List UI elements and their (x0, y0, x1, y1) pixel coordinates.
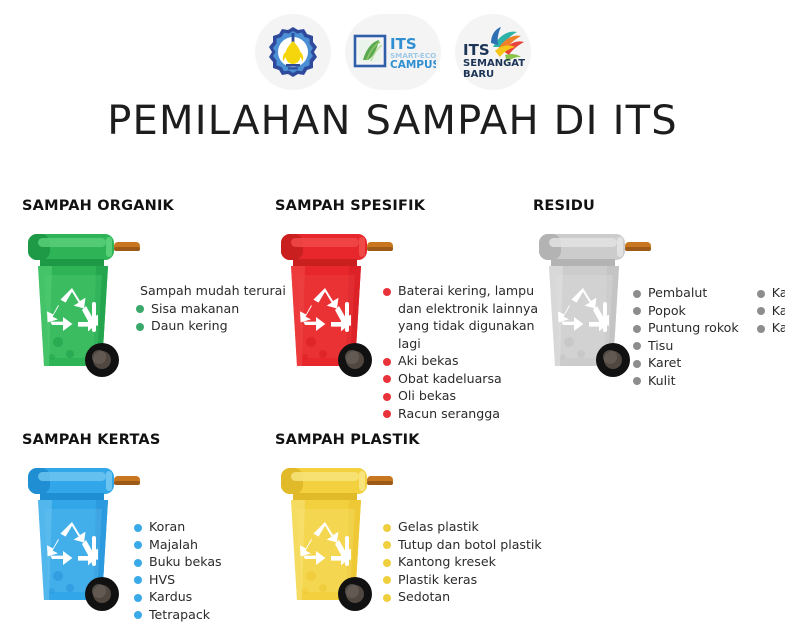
waste-item-label: Kayu (772, 320, 785, 335)
bin-wheel-hub-highlight (345, 350, 359, 364)
waste-item-label: Aki bekas (398, 353, 459, 368)
bin-wheel-hub-highlight (345, 584, 359, 598)
bullet-dot (633, 342, 641, 350)
bullet-dot (633, 325, 641, 333)
bullet-dot (383, 594, 391, 602)
waste-item-label: Kain (772, 303, 785, 318)
bin-lid-edge (617, 237, 623, 257)
bin-dot (49, 588, 55, 594)
waste-item: Sedotan (383, 588, 542, 606)
bullet-dot (136, 305, 144, 313)
bin-dot (302, 354, 308, 360)
bullet-dot (383, 576, 391, 584)
bin-handle-shadow (114, 247, 140, 251)
waste-item-label: Kulit (648, 373, 676, 388)
bin-wheel-hub-highlight (92, 584, 106, 598)
bin-illustration-spesifik (275, 226, 395, 386)
category-organik: SAMPAH ORGANIK Sampah mudah teruraiSisa … (22, 198, 174, 386)
waste-item-label: Karet (648, 355, 681, 370)
bin-illustration-organik (22, 226, 142, 386)
bullet-dot (134, 559, 142, 567)
category-title: RESIDU (533, 198, 595, 214)
bin-dot (66, 350, 74, 358)
bullet-dot (757, 325, 765, 333)
waste-bin-graphic (275, 460, 395, 620)
waste-item: Daun kering (136, 317, 286, 335)
waste-item: Karet (633, 354, 739, 372)
waste-item-label: Tisu (648, 338, 673, 353)
waste-item: Tisu (633, 337, 739, 355)
infographic-page: ITS SMART-ECO CAMPUS ITS SEMANGAT BARU (0, 0, 785, 639)
category-plastik: SAMPAH PLASTIK Gelas plastikTutup dan bo… (275, 432, 420, 620)
waste-item: Tetrapack (134, 606, 222, 624)
bin-neck (40, 493, 104, 501)
waste-item-label: Plastik keras (398, 572, 477, 587)
waste-item-label: Kantong kresek (398, 554, 496, 569)
bin-dot (319, 584, 327, 592)
bullet-dot (383, 393, 391, 401)
bin-lid-highlight (291, 472, 359, 481)
waste-item: Kaca (757, 284, 785, 302)
bin-dot (53, 571, 63, 581)
bin-neck (293, 493, 357, 501)
waste-item-column-1: KoranMajalahBuku bekasHVSKardusTetrapack (134, 518, 222, 623)
its-semangat-baru-logo: ITS SEMANGAT BARU (455, 14, 531, 90)
bin-handle-shadow (625, 247, 651, 251)
bin-dot (306, 337, 316, 347)
bin-dot (319, 350, 327, 358)
waste-item-label: Pembalut (648, 285, 707, 300)
waste-item-lists: Sampah mudah teruraiSisa makananDaun ker… (136, 282, 286, 335)
bin-lid-edge (359, 471, 365, 491)
bullet-dot (633, 377, 641, 385)
bullet-dot (383, 375, 391, 383)
bullet-dot (633, 307, 641, 315)
waste-item-label: Tutup dan botol plastik (398, 537, 542, 552)
waste-item: Sampah mudah terurai (136, 282, 286, 300)
category-kertas: SAMPAH KERTAS KoranMajalahBuku bekasHVSK… (22, 432, 160, 620)
page-title: PEMILAHAN SAMPAH DI ITS (0, 98, 785, 144)
waste-item: Popok (633, 302, 739, 320)
bullet-dot (383, 358, 391, 366)
waste-item-label: Popok (648, 303, 686, 318)
leaf-square-mark (355, 36, 385, 66)
its-smart-eco-campus-logo: ITS SMART-ECO CAMPUS (345, 14, 441, 90)
waste-item: Tutup dan botol plastik (383, 536, 542, 554)
waste-item-column-2: KacaKainKayu (757, 284, 785, 389)
waste-item: Majalah (134, 536, 222, 554)
category-residu: RESIDU PembalutPopokPuntung rokokTisuKar… (533, 198, 595, 386)
bin-handle-shadow (114, 481, 140, 485)
waste-item: Sisa makanan (136, 300, 286, 318)
bin-dot (53, 337, 63, 347)
bin-dot (560, 354, 566, 360)
bin-neck (551, 259, 615, 267)
waste-item: Racun serangga (383, 405, 561, 423)
waste-item: Puntung rokok (633, 319, 739, 337)
bin-illustration-kertas (22, 460, 142, 620)
bin-dot (302, 588, 308, 594)
waste-item: Kantong kresek (383, 553, 542, 571)
waste-item: Koran (134, 518, 222, 536)
category-title: SAMPAH ORGANIK (22, 198, 174, 214)
waste-item-label: Oli bekas (398, 388, 456, 403)
waste-item: Gelas plastik (383, 518, 542, 536)
waste-item: Kulit (633, 372, 739, 390)
logo-strip: ITS SMART-ECO CAMPUS ITS SEMANGAT BARU (0, 14, 785, 90)
bin-neck (40, 259, 104, 267)
waste-bin-graphic (22, 460, 142, 620)
bullet-dot (134, 594, 142, 602)
bullet-dot (134, 576, 142, 584)
waste-bin-graphic (22, 226, 142, 386)
waste-item: Pembalut (633, 284, 739, 302)
waste-item: Buku bekas (134, 553, 222, 571)
waste-item-label: Racun serangga (398, 406, 500, 421)
waste-item-label: Kaca (772, 285, 785, 300)
waste-item-column-1: PembalutPopokPuntung rokokTisuKaretKulit (633, 284, 739, 389)
bin-wheel-hub-highlight (92, 350, 106, 364)
waste-item: Kayu (757, 319, 785, 337)
waste-item: HVS (134, 571, 222, 589)
bin-illustration-plastik (275, 460, 395, 620)
bullet-dot (383, 559, 391, 567)
semangat-swoosh-mark (491, 27, 524, 62)
bin-dot (66, 584, 74, 592)
waste-item-label: Kardus (149, 589, 192, 604)
waste-item-label: Gelas plastik (398, 519, 479, 534)
bin-dot (49, 354, 55, 360)
waste-item-label: Obat kadeluarsa (398, 371, 502, 386)
bin-lid-highlight (549, 238, 617, 247)
bullet-dot (136, 323, 144, 331)
bullet-dot (757, 307, 765, 315)
waste-item-label: HVS (149, 572, 175, 587)
its-emblem-logo (255, 14, 331, 90)
waste-item: Oli bekas (383, 387, 561, 405)
bullet-dot (134, 541, 142, 549)
bin-dot (306, 571, 316, 581)
category-title: SAMPAH PLASTIK (275, 432, 420, 448)
waste-item: Kain (757, 302, 785, 320)
bullet-dot (383, 524, 391, 532)
bullet-dot (134, 524, 142, 532)
waste-item-label: Sampah mudah terurai (140, 283, 286, 298)
bin-dot (577, 350, 585, 358)
waste-item-label: Sedotan (398, 589, 450, 604)
bin-lid-highlight (38, 238, 106, 247)
bullet-dot (633, 290, 641, 298)
waste-item-label: Koran (149, 519, 185, 534)
waste-bin-graphic (275, 226, 395, 386)
waste-item-label: Baterai kering, lampu dan elektronik lai… (398, 283, 538, 351)
bin-lid-highlight (291, 238, 359, 247)
waste-item: Kardus (134, 588, 222, 606)
waste-item: Plastik keras (383, 571, 542, 589)
bin-lid-edge (106, 471, 112, 491)
category-spesifik: SAMPAH SPESIFIK Baterai kering, lampu da… (275, 198, 425, 386)
waste-item-lists: KoranMajalahBuku bekasHVSKardusTetrapack (134, 518, 222, 623)
waste-item-label: Puntung rokok (648, 320, 739, 335)
logo-text-its-2: ITS (463, 41, 490, 59)
bullet-dot (383, 541, 391, 549)
logo-text-semangat: SEMANGAT (463, 58, 525, 69)
bullet-dot (633, 360, 641, 368)
logo-text-baru: BARU (463, 69, 494, 80)
waste-item-column-1: Sampah mudah teruraiSisa makananDaun ker… (136, 282, 286, 335)
bin-handle-shadow (367, 481, 393, 485)
bullet-dot (134, 611, 142, 619)
waste-item-label: Buku bekas (149, 554, 222, 569)
bullet-dot (383, 288, 391, 296)
waste-item-label: Sisa makanan (151, 301, 239, 316)
bullet-dot (383, 410, 391, 418)
logo-text-campus: CAMPUS (390, 59, 436, 71)
bin-neck (293, 259, 357, 267)
bullet-dot (757, 290, 765, 298)
waste-item-label: Daun kering (151, 318, 228, 333)
bin-lid-edge (106, 237, 112, 257)
category-title: SAMPAH SPESIFIK (275, 198, 425, 214)
bin-dot (564, 337, 574, 347)
bin-lid-edge (359, 237, 365, 257)
waste-item-label: Tetrapack (149, 607, 210, 622)
bin-handle-shadow (367, 247, 393, 251)
bin-lid-highlight (38, 472, 106, 481)
waste-item-lists: Gelas plastikTutup dan botol plastikKant… (383, 518, 542, 606)
waste-item-label: Majalah (149, 537, 198, 552)
category-title: SAMPAH KERTAS (22, 432, 160, 448)
waste-item-column-1: Gelas plastikTutup dan botol plastikKant… (383, 518, 542, 606)
waste-item-lists: PembalutPopokPuntung rokokTisuKaretKulit… (633, 284, 785, 389)
bin-wheel-hub-highlight (603, 350, 617, 364)
